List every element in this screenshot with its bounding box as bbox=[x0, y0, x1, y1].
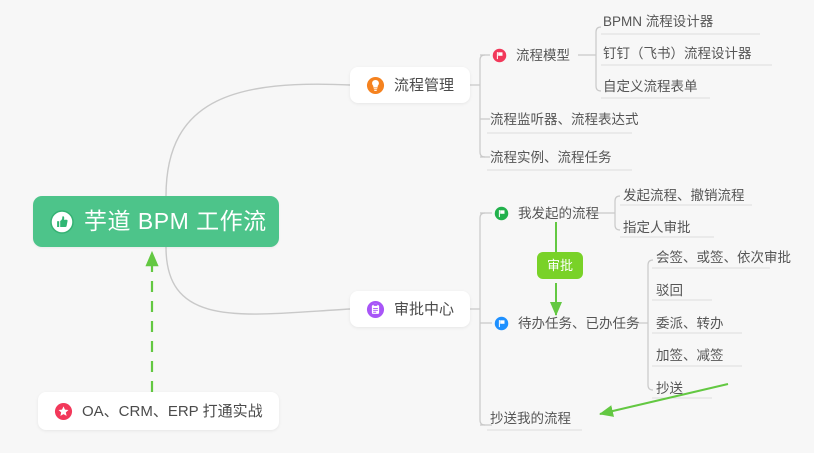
node-process-listener[interactable]: 流程监听器、流程表达式 bbox=[490, 113, 639, 127]
flag-icon bbox=[494, 206, 509, 221]
node-assign-approver[interactable]: 指定人审批 bbox=[623, 221, 691, 235]
spine-process-model bbox=[596, 27, 601, 91]
node-my-initiated[interactable]: 我发起的流程 bbox=[494, 206, 599, 221]
node-my-initiated-label: 我发起的流程 bbox=[518, 207, 599, 221]
node-cc-my-process-label: 抄送我的流程 bbox=[490, 412, 571, 426]
node-dingtalk-designer-label: 钉钉（飞书）流程设计器 bbox=[603, 47, 752, 61]
mindmap-canvas: 芋道 BPM 工作流 流程管理 流程模型 BPMN 流程设计器 钉钉（飞书）流程 bbox=[0, 0, 814, 453]
node-bpmn-designer[interactable]: BPMN 流程设计器 bbox=[603, 15, 713, 29]
node-todo-done-tasks[interactable]: 待办任务、已办任务 bbox=[494, 316, 640, 331]
root-label: 芋道 BPM 工作流 bbox=[84, 210, 267, 233]
connector-root-to-approval-center bbox=[166, 247, 350, 314]
branch-process-management-label: 流程管理 bbox=[394, 78, 454, 93]
lightbulb-icon bbox=[366, 76, 385, 95]
node-reject[interactable]: 驳回 bbox=[656, 284, 683, 298]
node-process-listener-label: 流程监听器、流程表达式 bbox=[490, 113, 639, 127]
connector-root-to-process-management bbox=[166, 84, 350, 196]
branch-approval-center[interactable]: 审批中心 bbox=[350, 291, 470, 327]
branch-process-management[interactable]: 流程管理 bbox=[350, 67, 470, 103]
node-start-cancel-process[interactable]: 发起流程、撤销流程 bbox=[623, 189, 745, 203]
node-cc-my-process[interactable]: 抄送我的流程 bbox=[490, 412, 571, 426]
flag-icon bbox=[494, 316, 509, 331]
thumbs-up-icon bbox=[50, 210, 74, 234]
node-custom-form-label: 自定义流程表单 bbox=[603, 80, 698, 94]
node-todo-done-tasks-label: 待办任务、已办任务 bbox=[518, 317, 640, 331]
node-assign-approver-label: 指定人审批 bbox=[623, 221, 691, 235]
spine-my-initiated bbox=[615, 196, 620, 230]
node-custom-form[interactable]: 自定义流程表单 bbox=[603, 80, 698, 94]
node-cc[interactable]: 抄送 bbox=[656, 382, 683, 396]
node-cc-label: 抄送 bbox=[656, 382, 683, 396]
spine-process-management-line bbox=[480, 55, 490, 157]
bottom-note-card[interactable]: OA、CRM、ERP 打通实战 bbox=[38, 392, 279, 430]
node-process-model[interactable]: 流程模型 bbox=[492, 48, 570, 63]
root-node[interactable]: 芋道 BPM 工作流 bbox=[33, 196, 279, 247]
approval-tag-label: 审批 bbox=[547, 259, 573, 272]
node-dingtalk-designer[interactable]: 钉钉（飞书）流程设计器 bbox=[603, 47, 752, 61]
spine-approval-center bbox=[480, 213, 485, 425]
node-add-remove-sign[interactable]: 加签、减签 bbox=[656, 349, 724, 363]
node-add-remove-sign-label: 加签、减签 bbox=[656, 349, 724, 363]
star-icon bbox=[54, 402, 73, 421]
branch-approval-center-label: 审批中心 bbox=[394, 302, 454, 317]
spine-todo-tasks bbox=[648, 260, 653, 390]
node-delegate-transfer[interactable]: 委派、转办 bbox=[656, 317, 724, 331]
spine-approval-center-ticks bbox=[480, 213, 492, 425]
spine-process-management bbox=[480, 55, 485, 157]
clipboard-icon bbox=[366, 300, 385, 319]
node-delegate-transfer-label: 委派、转办 bbox=[656, 317, 724, 331]
node-countersign[interactable]: 会签、或签、依次审批 bbox=[656, 251, 791, 265]
node-reject-label: 驳回 bbox=[656, 284, 683, 298]
node-countersign-label: 会签、或签、依次审批 bbox=[656, 251, 791, 265]
node-process-model-label: 流程模型 bbox=[516, 49, 570, 63]
node-process-instance[interactable]: 流程实例、流程任务 bbox=[490, 151, 612, 165]
node-process-instance-label: 流程实例、流程任务 bbox=[490, 151, 612, 165]
approval-tag: 审批 bbox=[537, 252, 583, 279]
bottom-note-label: OA、CRM、ERP 打通实战 bbox=[82, 404, 263, 419]
flag-icon bbox=[492, 48, 507, 63]
node-bpmn-designer-label: BPMN 流程设计器 bbox=[603, 15, 713, 29]
node-start-cancel-process-label: 发起流程、撤销流程 bbox=[623, 189, 745, 203]
